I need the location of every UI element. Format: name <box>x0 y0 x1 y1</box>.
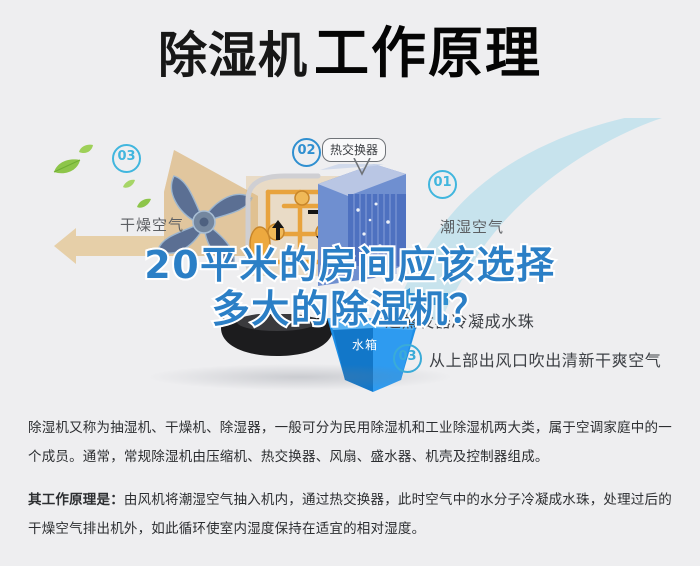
step-03-row: 03 从上部出风口吹出清新干爽空气 <box>393 344 661 373</box>
heat-exchanger-fins <box>318 164 406 289</box>
water-tank-label: 水箱 <box>352 336 378 353</box>
page-title: 除湿机工作原理 <box>0 26 700 81</box>
paragraph-2: 其工作原理是：由风机将潮湿空气抽入机内，通过热交换器，此时空气中的水分子冷凝成水… <box>28 486 676 544</box>
label-dry-air: 干燥空气 <box>120 214 184 235</box>
article-body: 除湿机又称为抽湿机、干燥机、除湿器，一般可分为民用除湿机和工业除湿机两大类，属于… <box>28 414 676 544</box>
air-inlet-arrow-icon <box>392 288 448 310</box>
badge-03: 03 <box>112 144 141 173</box>
callout-stem <box>352 158 372 181</box>
badge-03-bottom: 03 <box>393 344 422 373</box>
paragraph-1: 除湿机又称为抽湿机、干燥机、除湿器，一般可分为民用除湿机和工业除湿机两大类，属于… <box>28 414 676 472</box>
leaf-icon <box>52 158 82 181</box>
paragraph-2-rest: 由风机将潮湿空气抽入机内，通过热交换器，此时空气中的水分子冷凝成水珠，处理过后的… <box>28 492 672 537</box>
page-title-part2: 工作原理 <box>314 21 542 85</box>
label-humid-air: 潮湿空气 <box>440 216 504 237</box>
leaf-icon <box>78 142 94 160</box>
step-02-row: 过蒸发器冷凝成水珠 <box>385 308 534 332</box>
badge-01: 01 <box>428 170 457 199</box>
paragraph-2-lead: 其工作原理是： <box>28 492 124 508</box>
working-principle-illustration: 水箱 03 干燥空气 02 热交换器 01 潮湿空气 过蒸发器冷凝成水珠 03 … <box>0 118 700 403</box>
step-03-text: 从上部出风口吹出清新干爽空气 <box>429 347 661 371</box>
page-root: 除湿机工作原理 <box>0 0 700 566</box>
step-02-text: 过蒸发器冷凝成水珠 <box>385 308 534 332</box>
badge-02: 02 <box>292 138 321 167</box>
leaf-icon <box>122 176 136 194</box>
compressor-base <box>218 314 336 358</box>
page-title-part1: 除湿机 <box>158 27 308 84</box>
